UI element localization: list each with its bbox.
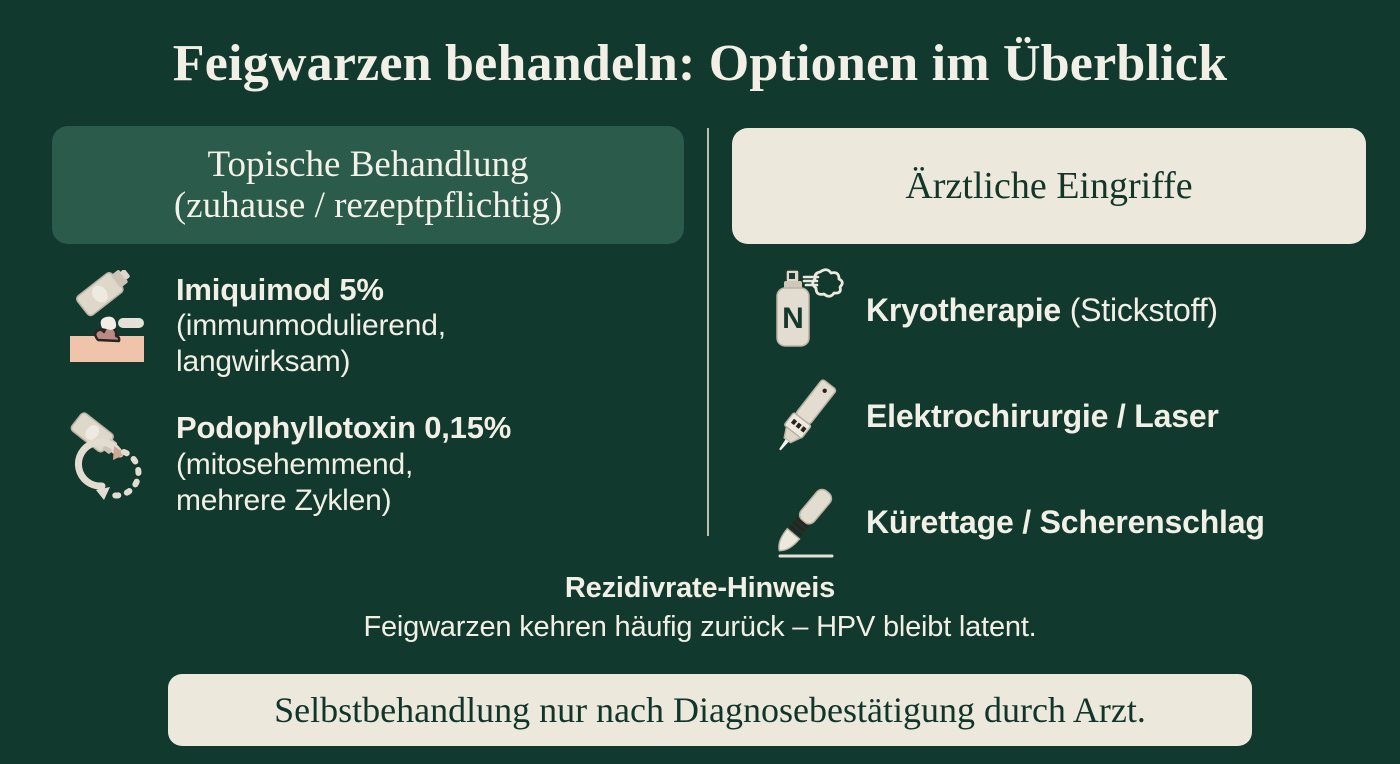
header-card-topical: Topische Behandlung (zuhause / rezeptpfl… (52, 126, 684, 244)
list-item: Podophyllotoxin 0,15% (mitosehemmend, me… (62, 406, 682, 518)
list-item-text: Kürettage / Scherenschlag (866, 504, 1382, 541)
list-item-title: Kryotherapie (866, 292, 1061, 328)
header-card-medical-text: Ärztliche Eingriffe (905, 165, 1192, 208)
list-item-title: Kürettage / Scherenschlag (866, 504, 1265, 540)
list-item-detail-line1: (mitosehemmend, (176, 447, 682, 483)
list-item: N Kryotherapie (Stickstoff) (762, 266, 1382, 354)
list-item-title: Imiquimod 5% (176, 272, 682, 308)
list-item: Elektrochirurgie / Laser (762, 372, 1382, 460)
topical-treatment-list: Imiquimod 5% (immunmodulierend, langwirk… (62, 268, 682, 545)
footer-disclaimer-text: Selbstbehandlung nur nach Diagnosebestät… (274, 689, 1146, 731)
spray-can-label: N (782, 302, 804, 335)
list-item-detail-line2: mehrere Zyklen) (176, 483, 682, 519)
scalpel-icon (762, 478, 848, 566)
list-item-text: Elektrochirurgie / Laser (866, 398, 1382, 435)
recurrence-note-title: Rezidivrate-Hinweis (0, 572, 1400, 605)
infographic-root: Feigwarzen behandeln: Optionen im Überbl… (0, 0, 1400, 764)
header-card-topical-line1: Topische Behandlung (174, 144, 562, 185)
list-item-detail-line1: (immunmodulierend, (176, 308, 682, 344)
header-card-topical-text: Topische Behandlung (zuhause / rezeptpfl… (174, 144, 562, 227)
list-item-detail-line2: langwirksam) (176, 344, 682, 380)
page-title: Feigwarzen behandeln: Optionen im Überbl… (0, 34, 1400, 93)
recurrence-note-body: Feigwarzen kehren häufig zurück – HPV bl… (0, 611, 1400, 644)
column-divider (707, 128, 709, 536)
tube-cycle-arrows-icon (62, 406, 158, 510)
nitrogen-spray-can-icon: N (762, 266, 848, 354)
recurrence-note: Rezidivrate-Hinweis Feigwarzen kehren hä… (0, 572, 1400, 644)
list-item-text: Podophyllotoxin 0,15% (mitosehemmend, me… (176, 406, 682, 518)
header-card-medical: Ärztliche Eingriffe (732, 128, 1366, 244)
header-card-topical-line2: (zuhause / rezeptpflichtig) (174, 185, 562, 226)
list-item-text: Kryotherapie (Stickstoff) (866, 292, 1382, 329)
electrosurgery-pen-icon (762, 372, 848, 460)
list-item-text: Imiquimod 5% (immunmodulierend, langwirk… (176, 268, 682, 380)
list-item: Imiquimod 5% (immunmodulierend, langwirk… (62, 268, 682, 380)
list-item: Kürettage / Scherenschlag (762, 478, 1382, 566)
cream-tube-on-skin-icon (62, 268, 158, 372)
list-item-title: Elektrochirurgie / Laser (866, 398, 1219, 434)
list-item-suffix: (Stickstoff) (1061, 292, 1218, 328)
list-item-title: Podophyllotoxin 0,15% (176, 410, 682, 446)
medical-procedures-list: N Kryotherapie (Stickstoff) (762, 266, 1382, 584)
footer-disclaimer-banner: Selbstbehandlung nur nach Diagnosebestät… (168, 674, 1252, 746)
